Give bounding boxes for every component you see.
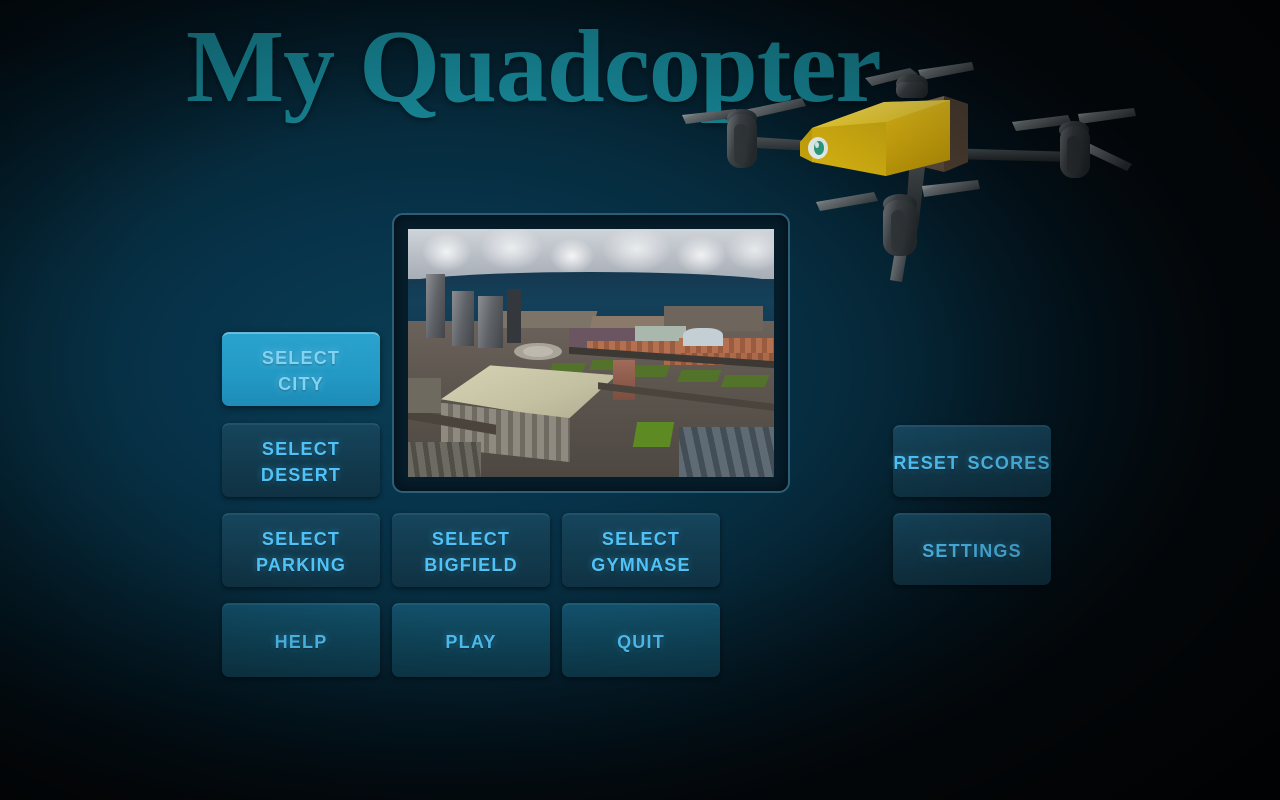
level-button-label-line2: Gymnase — [591, 551, 690, 577]
drone-body — [800, 96, 968, 176]
level-button-label-line2: BigField — [424, 551, 518, 577]
rotor-right — [1012, 108, 1136, 178]
side-button-settings[interactable]: Settings — [893, 513, 1051, 585]
preview-skyscraper — [426, 274, 444, 338]
action-button-label: Quit — [617, 628, 665, 654]
preview-roundabout — [523, 346, 552, 357]
preview-skyscraper — [452, 291, 474, 346]
preview-skyscraper — [478, 296, 504, 348]
level-button-bigfield[interactable]: SelectBigField — [392, 513, 550, 587]
level-preview-panel — [392, 213, 790, 493]
action-button-help[interactable]: Help — [222, 603, 380, 677]
level-button-label-line1: Select — [256, 525, 346, 551]
rotor-left — [682, 98, 806, 168]
level-preview-image — [408, 229, 774, 477]
action-button-label: Play — [445, 628, 496, 654]
level-button-label-line1: Select — [262, 344, 340, 370]
preview-building — [408, 378, 441, 413]
level-button-gymnase[interactable]: SelectGymnase — [562, 513, 720, 587]
level-button-label-line1: Select — [424, 525, 518, 551]
rotor-bottom — [816, 180, 980, 282]
action-button-quit[interactable]: Quit — [562, 603, 720, 677]
level-button-label-line2: Parking — [256, 551, 346, 577]
side-button-label: Settings — [922, 537, 1022, 563]
level-button-parking[interactable]: SelectParking — [222, 513, 380, 587]
preview-park — [629, 365, 671, 377]
level-button-label-line1: Select — [591, 525, 690, 551]
preview-park — [633, 422, 674, 447]
preview-skyscraper — [507, 289, 522, 344]
preview-building — [683, 328, 723, 345]
preview-park — [720, 375, 769, 387]
preview-building — [679, 427, 774, 477]
level-button-desert[interactable]: SelectDesert — [222, 423, 380, 497]
preview-park — [676, 370, 721, 382]
preview-clouds — [408, 229, 774, 279]
level-button-label-line2: Desert — [261, 461, 341, 487]
action-button-play[interactable]: Play — [392, 603, 550, 677]
level-button-label-line1: Select — [261, 435, 341, 461]
level-button-city[interactable]: SelectCity — [222, 332, 380, 406]
level-button-label-line2: City — [262, 370, 340, 396]
side-button-label: Reset Scores — [893, 449, 1050, 475]
action-button-label: Help — [275, 628, 328, 654]
side-button-reset-scores[interactable]: Reset Scores — [893, 425, 1051, 497]
rotor-top — [865, 62, 974, 98]
preview-building — [408, 442, 481, 477]
preview-tower-block — [613, 360, 635, 400]
